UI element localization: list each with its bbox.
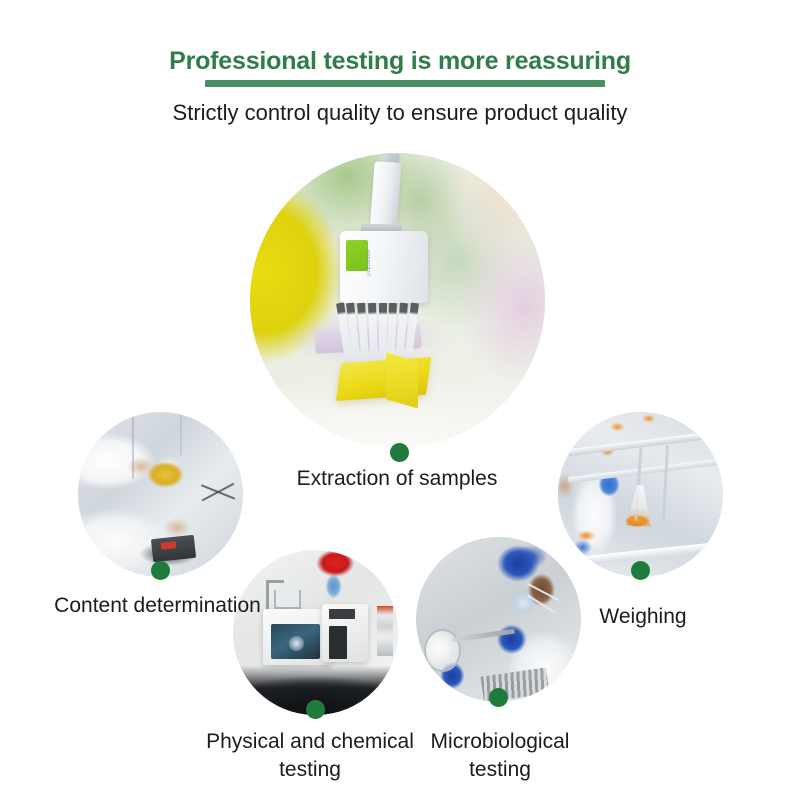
inoculation-tool-shape [452,628,515,642]
cabinet-edge-shape [132,415,134,478]
yellow-microplate-side-shape [386,352,418,408]
photo-physical-and-chemical-testing [233,550,398,715]
pipette-brand-text: eppendorf [336,250,371,262]
instrument-window-highlight [289,636,304,651]
instrument-panel-shape [151,535,196,562]
conical-flask-shape [626,484,653,526]
label-weighing: Weighing [528,603,758,631]
label-line-2: testing [385,756,615,784]
title-underline [205,80,605,87]
side-panel-strip-shape [377,606,394,656]
stand-arm-horizontal-shape [266,580,284,583]
label-line-1: Microbiological [385,728,615,756]
rack-bar-shape-2 [568,459,719,483]
green-dot-icon-weighing [631,561,650,580]
page-subtitle: Strictly control quality to ensure produ… [0,100,800,126]
photo-circle-physical-chemical-testing [233,550,398,715]
page-title: Professional testing is more reassuring [169,48,631,76]
green-dot-icon-content-determination [151,561,170,580]
label-extraction: Extraction of samples [247,465,547,493]
photo-circle-weighing [558,412,723,577]
cabinet-edge-shape-2 [180,412,182,455]
photo-extraction-of-samples: eppendorf [250,153,545,448]
rack-bar-shape-1 [568,431,720,456]
green-dot-icon-physical-chemical-testing [306,700,325,719]
clamp-rod-shape-2 [662,445,669,521]
photo-circle-extraction: eppendorf [250,153,545,448]
green-dot-icon-microbiological-testing [489,688,508,707]
instrument-display-shape [329,609,355,619]
photo-circle-content-determination [78,412,243,577]
label-microbiological-testing: Microbiological testing [385,728,615,785]
label-content-determination: Content determination [10,592,305,620]
green-dot-icon-extraction [390,443,409,462]
rack-bar-shape-3 [578,541,723,565]
photo-content-determination [78,412,243,577]
title-wrapper: Professional testing is more reassuring [0,48,800,76]
instrument-window-shape-2 [329,626,347,659]
photo-weighing [558,412,723,577]
